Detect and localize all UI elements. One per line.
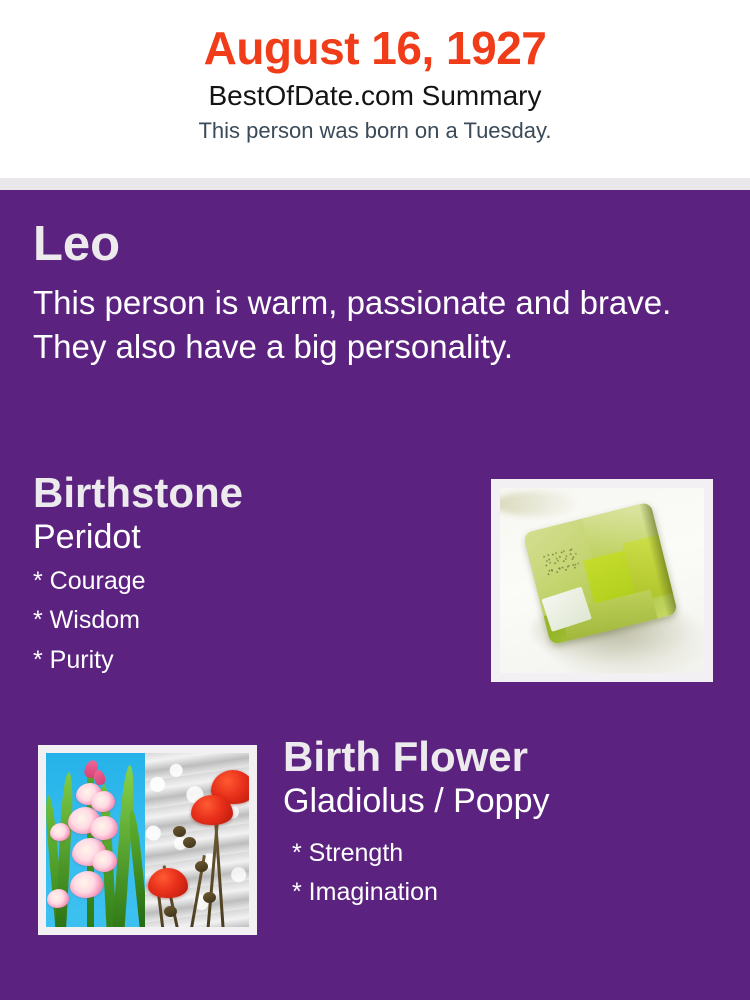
details-panel: Leo This person is warm, passionate and … [0,190,750,1000]
birthstone-section: Birthstone Peridot * Courage * Wisdom * … [33,471,473,680]
gladiolus-photo-panel [46,753,145,927]
zodiac-sign-name: Leo [33,220,693,269]
birth-flower-image-frame [38,745,257,935]
list-item: * Strength [283,834,723,874]
page-title: August 16, 1927 [0,0,750,72]
poppy-stem [206,823,219,927]
birthstone-image-frame [491,479,713,682]
list-item: * Wisdom [33,601,473,641]
gladiolus-bloom [90,816,118,840]
birthstone-name: Peridot [33,516,473,556]
poppy-bud [195,861,208,872]
poppy-flower [148,868,188,898]
list-item: * Imagination [283,873,723,913]
gladiolus-bloom [50,823,70,841]
gemstone-photo-scene [500,488,704,673]
flower-photo-scene [46,753,249,927]
photo-highlight-blur [500,492,578,516]
zodiac-section: Leo This person is warm, passionate and … [33,220,693,369]
birthstone-trait-list: * Courage * Wisdom * Purity [33,556,473,681]
birth-flower-name: Gladiolus / Poppy [283,780,723,820]
born-weekday-label: This person was born on a Tuesday. [0,112,750,143]
gladiolus-bloom [70,871,103,898]
zodiac-description: This person is warm, passionate and brav… [33,269,683,369]
header-divider [0,178,750,190]
poppy-photo-panel [145,753,249,927]
poppy-bud [173,826,186,837]
birth-flower-section: Birth Flower Gladiolus / Poppy * Strengt… [283,735,723,913]
birth-flower-heading: Birth Flower [283,735,723,780]
poppy-bud [203,892,216,903]
birthstone-heading: Birthstone [33,471,473,516]
gladiolus-bloom [47,889,69,908]
peridot-gemstone-image [500,488,704,673]
header: August 16, 1927 BestOfDate.com Summary T… [0,0,750,178]
list-item: * Courage [33,562,473,602]
gladiolus-leaf [127,809,146,927]
poppy-bud [183,837,196,848]
site-summary-label: BestOfDate.com Summary [0,72,750,112]
summary-card: August 16, 1927 BestOfDate.com Summary T… [0,0,750,1000]
list-item: * Purity [33,641,473,681]
gladiolus-poppy-image [46,753,249,927]
birth-flower-trait-list: * Strength * Imagination [283,820,723,913]
